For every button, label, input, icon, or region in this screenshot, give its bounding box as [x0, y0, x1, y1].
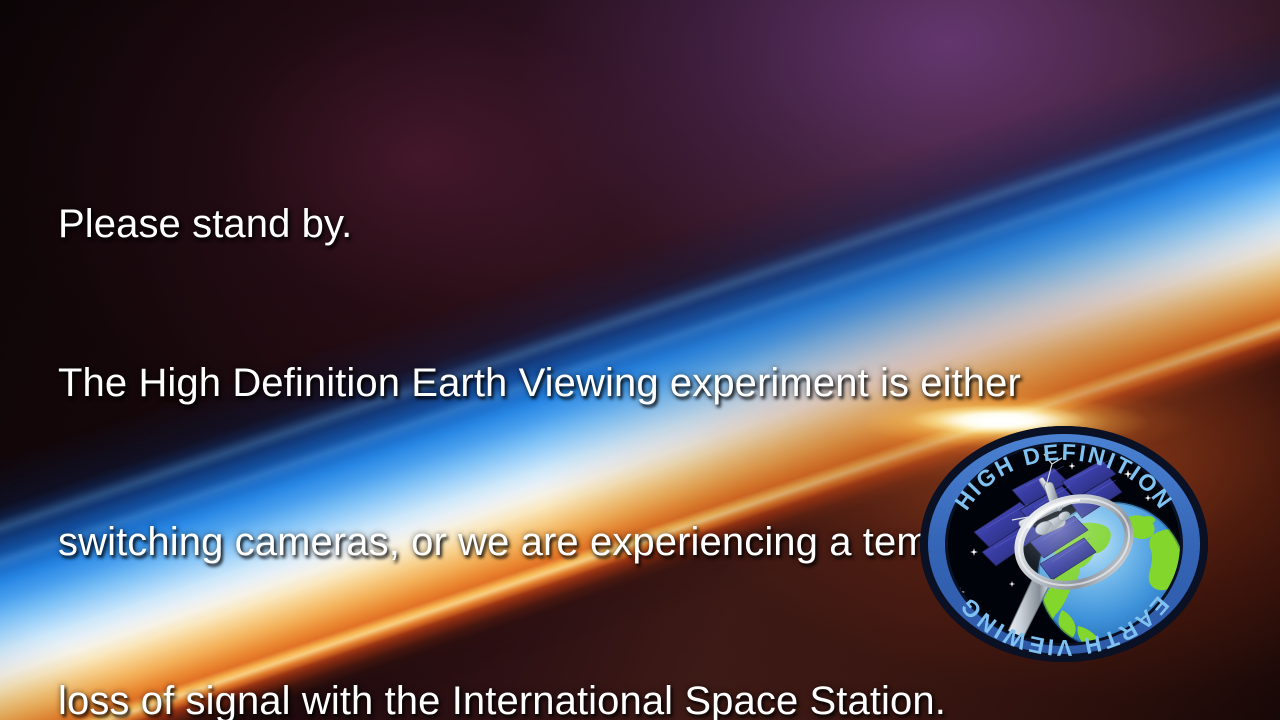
hdev-mission-patch: HIGH DEFINITION EARTH VIEWING [916, 424, 1212, 664]
standby-message-line-4: loss of signal with the International Sp… [58, 675, 1188, 720]
standby-message-line-2: The High Definition Earth Viewing experi… [58, 357, 1188, 410]
video-stream-frame: Please stand by. The High Definition Ear… [0, 0, 1280, 720]
standby-message-line-1: Please stand by. [58, 198, 1188, 251]
